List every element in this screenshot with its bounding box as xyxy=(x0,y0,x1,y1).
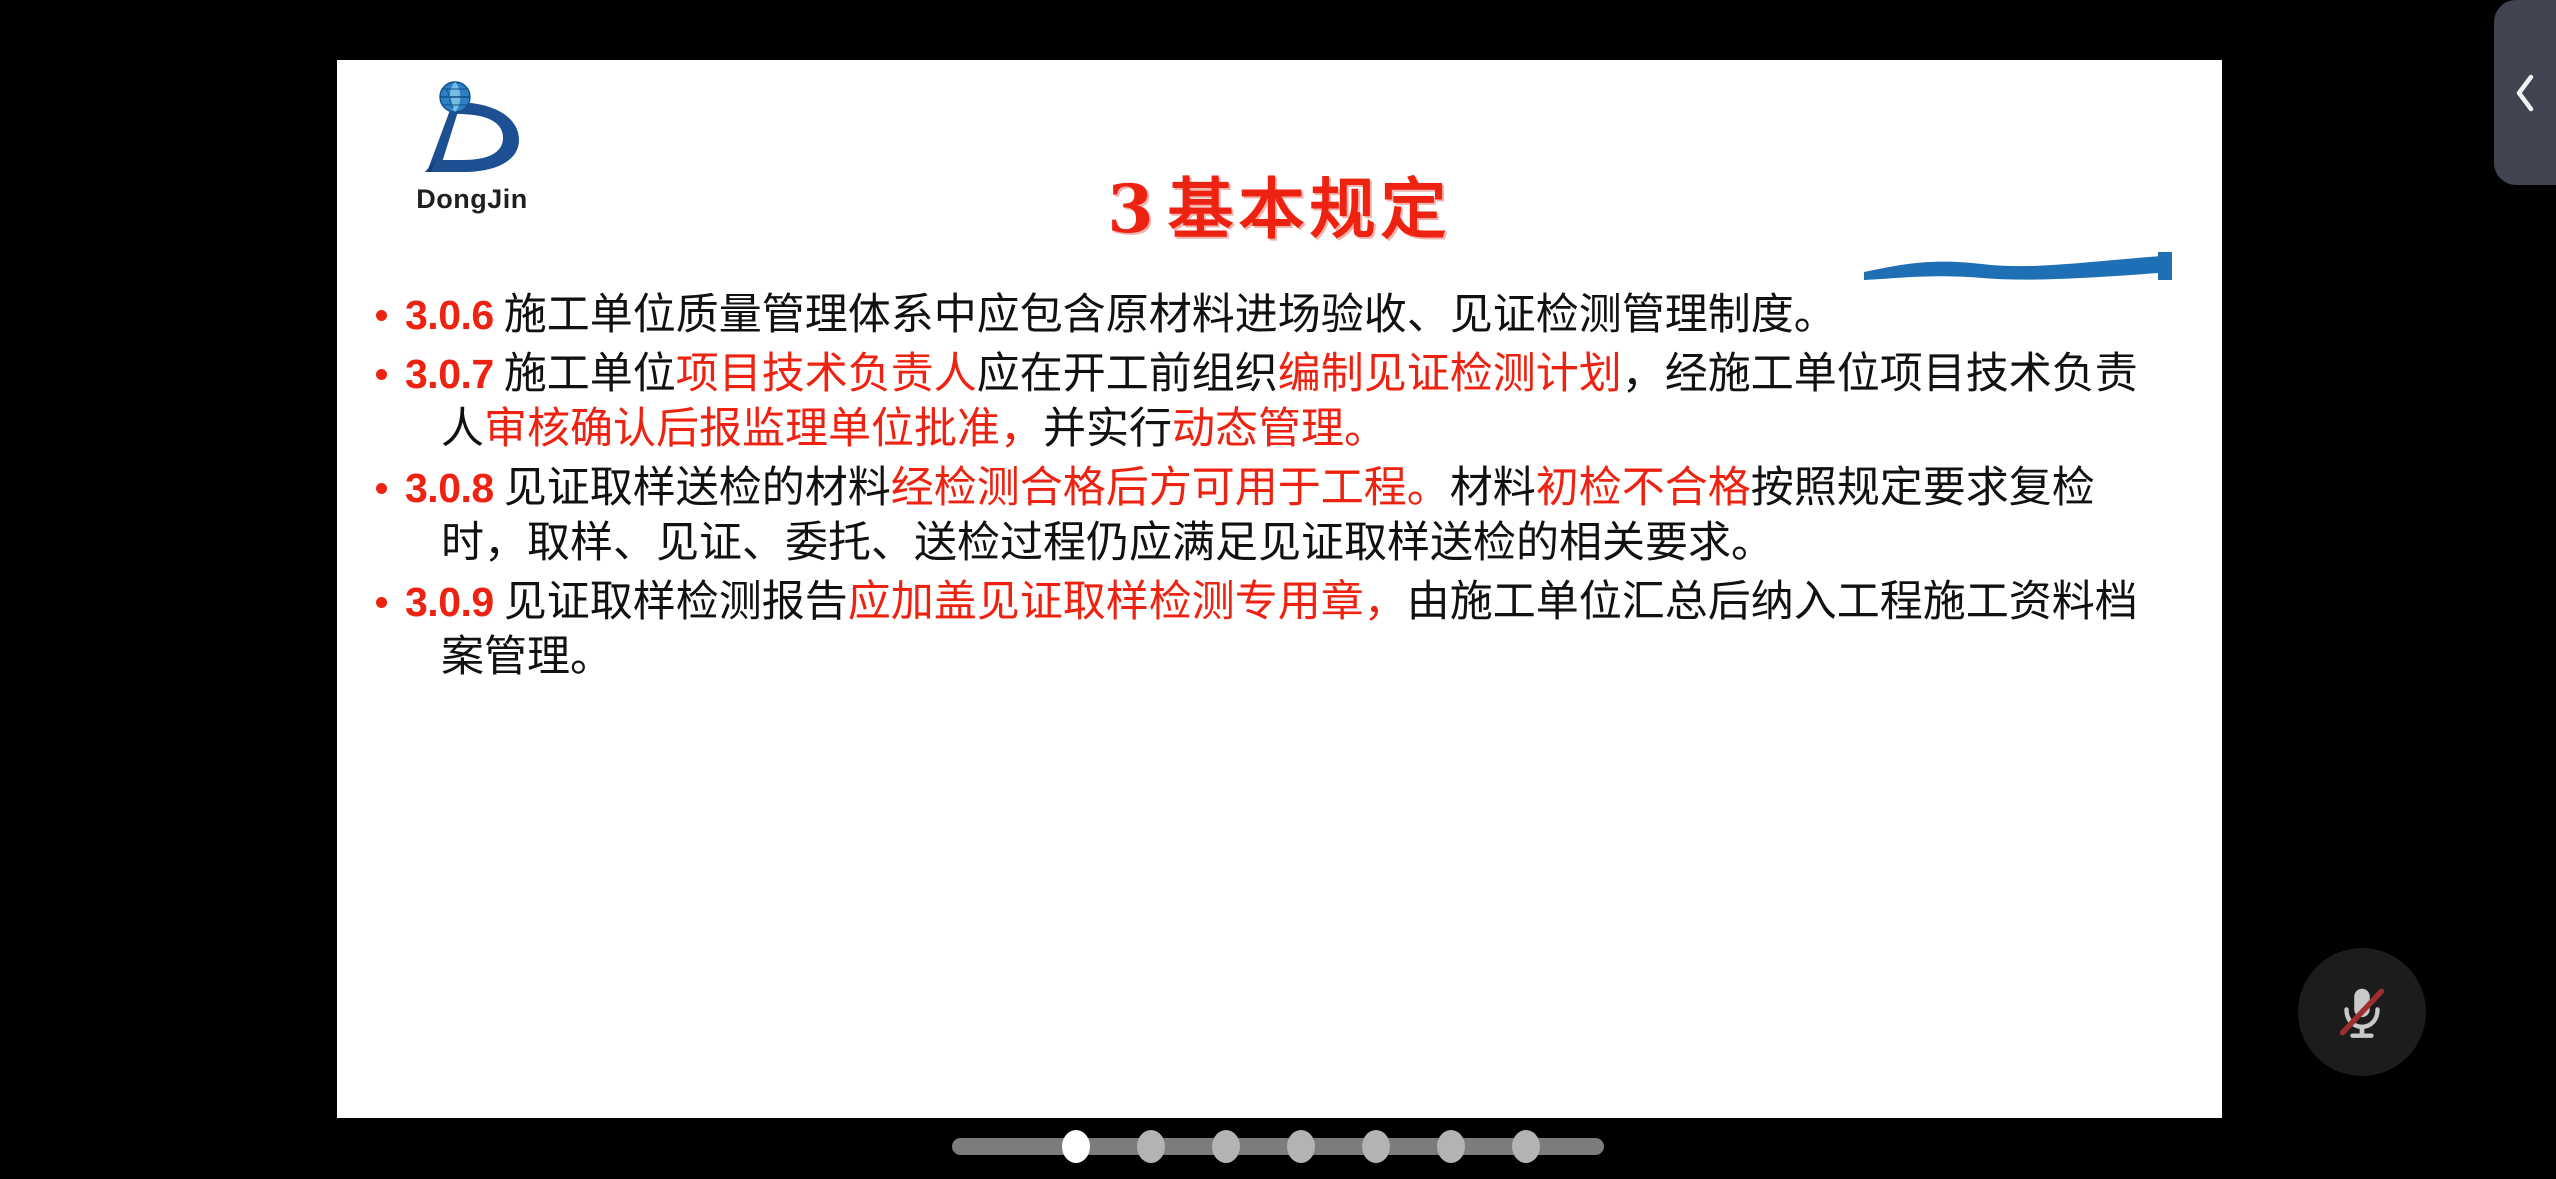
clause-text-part: 初检不合格 xyxy=(1536,463,1751,513)
clause-text-part: 并实行 xyxy=(1043,404,1172,454)
clause-text: 施工单位质量管理体系中应包含原材料进场验收、见证检测管理制度。 xyxy=(504,290,1837,340)
page-dot-3[interactable] xyxy=(1212,1130,1240,1163)
back-navigation-panel[interactable] xyxy=(2494,0,2556,185)
blue-marker-annotation xyxy=(1862,252,2174,282)
clause-text-part: 动态管理。 xyxy=(1172,404,1387,454)
page-dot-6[interactable] xyxy=(1437,1130,1465,1163)
microphone-muted-icon[interactable] xyxy=(2331,981,2393,1043)
page-indicator[interactable] xyxy=(952,1130,1604,1163)
clause-text-part: 审核确认后报监理单位批准， xyxy=(484,404,1043,454)
chevron-left-icon[interactable] xyxy=(2513,73,2537,113)
screen-root: DongJin 3基本规定 3.0.6施工单位质量管理体系中应包含原材料进场验收… xyxy=(0,0,2556,1179)
page-dot-1[interactable] xyxy=(1062,1130,1090,1163)
list-item: 3.0.7施工单位项目技术负责人应在开工前组织编制见证检测计划，经施工单位项目技… xyxy=(337,347,2178,457)
title-number: 3 xyxy=(1108,170,1168,248)
page-dot-4[interactable] xyxy=(1287,1130,1315,1163)
list-item: 3.0.8见证取样送检的材料经检测合格后方可用于工程。材料初检不合格按照规定要求… xyxy=(337,461,2178,571)
clause-text-part: 见证取样送检的材料 xyxy=(504,463,891,513)
page-dot-7[interactable] xyxy=(1512,1130,1540,1163)
page-dot-2[interactable] xyxy=(1137,1130,1165,1163)
list-item: 3.0.6施工单位质量管理体系中应包含原材料进场验收、见证检测管理制度。 xyxy=(337,288,2178,343)
page-title: 3基本规定 xyxy=(337,156,2222,252)
clause-text-part: 见证取样检测报告 xyxy=(504,577,848,627)
bottom-navigation-bar xyxy=(0,1118,2556,1179)
title-text: 基本规定 xyxy=(1167,170,1451,248)
clause-number: 3.0.8 xyxy=(405,465,504,511)
clause-number: 3.0.7 xyxy=(405,351,504,397)
bullet-dot-icon xyxy=(376,369,387,380)
mic-mute-button[interactable] xyxy=(2298,948,2426,1076)
clause-text-part: 经检测合格后方可用于工程。 xyxy=(891,463,1450,513)
clause-text-part: 施工单位 xyxy=(504,349,676,399)
clause-number: 3.0.9 xyxy=(405,579,504,625)
presentation-slide[interactable]: DongJin 3基本规定 3.0.6施工单位质量管理体系中应包含原材料进场验收… xyxy=(337,60,2222,1118)
clause-text-part: 项目技术负责人 xyxy=(676,349,977,399)
list-item: 3.0.9见证取样检测报告应加盖见证取样检测专用章，由施工单位汇总后纳入工程施工… xyxy=(337,575,2178,685)
bullet-dot-icon xyxy=(376,597,387,608)
content-list: 3.0.6施工单位质量管理体系中应包含原材料进场验收、见证检测管理制度。 3.0… xyxy=(337,288,2222,689)
clause-number: 3.0.6 xyxy=(405,292,504,338)
clause-text-part: 应加盖见证取样检测专用章， xyxy=(848,577,1407,627)
clause-text-part: 应在开工前组织 xyxy=(977,349,1278,399)
clause-text-part: 材料 xyxy=(1450,463,1536,513)
clause-text-part: 编制见证检测计划 xyxy=(1278,349,1622,399)
bullet-dot-icon xyxy=(376,483,387,494)
bullet-dot-icon xyxy=(376,310,387,321)
page-dot-5[interactable] xyxy=(1362,1130,1390,1163)
